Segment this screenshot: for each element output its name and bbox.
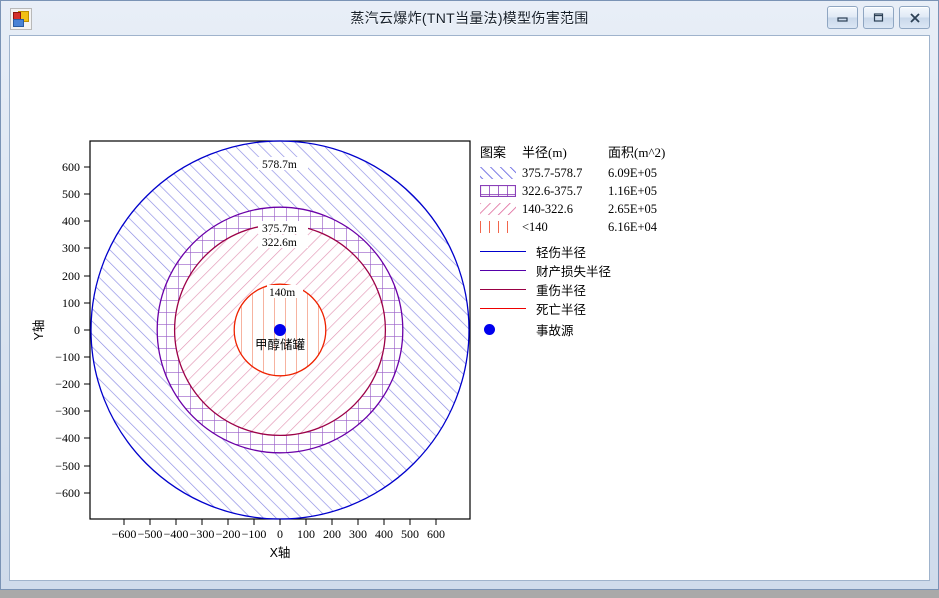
svg-text:−600: −600 <box>112 527 137 541</box>
svg-text:−100: −100 <box>242 527 267 541</box>
line-swatch-red <box>480 308 526 309</box>
legend-line-death: 死亡半径 <box>480 299 680 318</box>
legend-line-label: 财产损失半径 <box>534 261 611 280</box>
svg-text:0: 0 <box>74 323 80 337</box>
legend-area-value: 2.65E+05 <box>608 202 680 217</box>
x-axis-title: X轴 <box>270 545 291 560</box>
legend-header-radius: 半径(m) <box>522 142 608 161</box>
legend-line-light-injury: 轻伤半径 <box>480 242 680 261</box>
application-icon <box>10 8 32 30</box>
svg-text:−300: −300 <box>55 404 80 418</box>
line-swatch-purple <box>480 270 526 271</box>
legend-radius-value: 375.7-578.7 <box>522 166 608 181</box>
legend-point-label: 事故源 <box>534 320 574 339</box>
legend-row-light-injury: 375.7-578.7 6.09E+05 <box>480 164 680 182</box>
svg-text:200: 200 <box>323 527 341 541</box>
legend-area-value: 6.09E+05 <box>608 166 680 181</box>
line-swatch-magenta <box>480 289 526 290</box>
svg-text:300: 300 <box>349 527 367 541</box>
svg-text:100: 100 <box>62 296 80 310</box>
pattern-swatch-diagonal-back <box>480 203 516 215</box>
pattern-swatch-diagonal-forward <box>480 167 516 179</box>
minimize-button[interactable] <box>827 6 858 29</box>
line-swatch-blue <box>480 251 526 252</box>
x-axis-ticks: −600 −500 −400 −300 −200 −100 0 100 200 … <box>112 519 445 541</box>
label-radius-140: 140m <box>269 287 295 299</box>
svg-text:−200: −200 <box>55 377 80 391</box>
svg-text:−100: −100 <box>55 350 80 364</box>
legend-radius-value: 140-322.6 <box>522 202 608 217</box>
legend-header-area: 面积(m^2) <box>608 142 680 161</box>
legend-line-property-loss: 财产损失半径 <box>480 261 680 280</box>
svg-text:−400: −400 <box>164 527 189 541</box>
legend-row-death: <140 6.16E+04 <box>480 218 680 236</box>
label-radius-322: 322.6m <box>262 237 297 249</box>
label-radius-375: 375.7m <box>262 223 297 235</box>
svg-text:500: 500 <box>401 527 419 541</box>
y-axis-title: Y轴 <box>31 320 46 341</box>
legend-line-label: 轻伤半径 <box>534 242 586 261</box>
svg-text:600: 600 <box>427 527 445 541</box>
svg-text:100: 100 <box>297 527 315 541</box>
legend-line-serious-injury: 重伤半径 <box>480 280 680 299</box>
client-area: 578.7m 375.7m 322.6m 140m 甲醇储罐 600 500 4… <box>9 35 930 581</box>
application-window: 蒸汽云爆炸(TNT当量法)模型伤害范围 <box>0 0 939 590</box>
svg-text:−500: −500 <box>55 459 80 473</box>
legend-radius-value: <140 <box>522 220 608 235</box>
maximize-button[interactable] <box>863 6 894 29</box>
svg-text:−600: −600 <box>55 486 80 500</box>
legend-line-label: 死亡半径 <box>534 299 586 318</box>
damage-range-figure: 578.7m 375.7m 322.6m 140m 甲醇储罐 600 500 4… <box>10 36 931 582</box>
dot-swatch-icon <box>480 324 526 335</box>
legend-area-value: 1.16E+05 <box>608 184 680 199</box>
window-title: 蒸汽云爆炸(TNT当量法)模型伤害范围 <box>1 8 938 28</box>
svg-text:−500: −500 <box>138 527 163 541</box>
legend-line-label: 重伤半径 <box>534 280 586 299</box>
legend-row-serious-injury: 140-322.6 2.65E+05 <box>480 200 680 218</box>
svg-text:400: 400 <box>375 527 393 541</box>
pattern-swatch-vertical <box>480 221 516 233</box>
chart-legend: 图案 半径(m) 面积(m^2) 375.7-578.7 6.09E+05 32… <box>480 142 680 340</box>
svg-text:300: 300 <box>62 241 80 255</box>
svg-text:400: 400 <box>62 214 80 228</box>
legend-area-value: 6.16E+04 <box>608 220 680 235</box>
window-controls <box>827 6 930 29</box>
legend-header-pattern: 图案 <box>480 142 522 161</box>
svg-text:600: 600 <box>62 160 80 174</box>
close-button[interactable] <box>899 6 930 29</box>
title-bar[interactable]: 蒸汽云爆炸(TNT当量法)模型伤害范围 <box>1 1 938 35</box>
legend-radius-value: 322.6-375.7 <box>522 184 608 199</box>
legend-header-row: 图案 半径(m) 面积(m^2) <box>480 142 680 161</box>
y-axis-ticks: 600 500 400 300 200 100 0 −100 −200 −300… <box>55 160 90 500</box>
svg-text:−200: −200 <box>216 527 241 541</box>
pattern-swatch-cross-hatch <box>480 185 516 197</box>
svg-text:0: 0 <box>277 527 283 541</box>
svg-text:−400: −400 <box>55 431 80 445</box>
svg-text:500: 500 <box>62 187 80 201</box>
legend-accident-source: 事故源 <box>480 318 680 340</box>
svg-text:−300: −300 <box>190 527 215 541</box>
label-radius-578: 578.7m <box>262 159 297 171</box>
accident-source-marker <box>274 324 286 336</box>
legend-row-property-loss: 322.6-375.7 1.16E+05 <box>480 182 680 200</box>
source-point-label: 甲醇储罐 <box>255 337 306 352</box>
svg-text:200: 200 <box>62 269 80 283</box>
